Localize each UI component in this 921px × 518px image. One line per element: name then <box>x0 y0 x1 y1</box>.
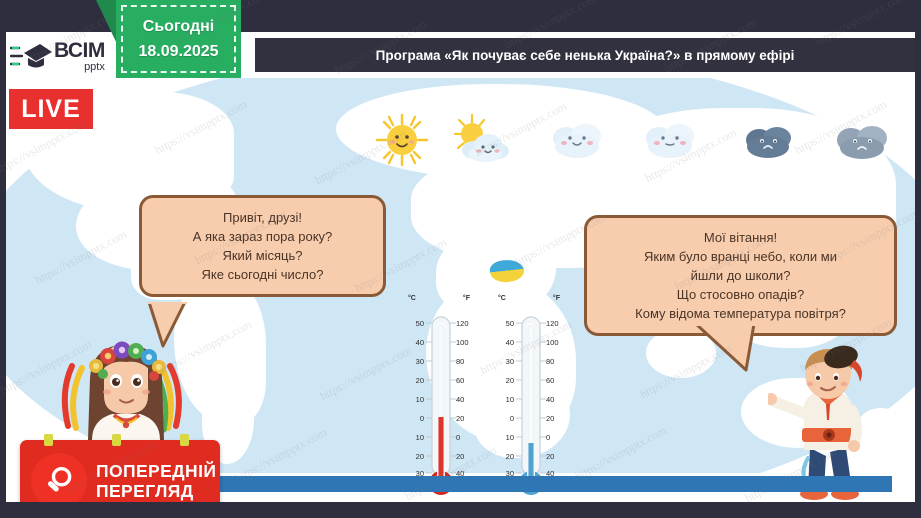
cloud-light-icon-2 <box>639 112 701 168</box>
thermo-blue-c-5: 0 <box>498 414 514 423</box>
thermo-red-c-7: 20 <box>408 452 424 461</box>
thermo-blue-c-3: 20 <box>498 376 514 385</box>
thermo-red-f-1: 100 <box>456 338 472 347</box>
thermo-red-c-5: 0 <box>408 414 424 423</box>
thermo-red-c-6: 10 <box>408 433 424 442</box>
thermo-red-f-5: 20 <box>456 414 472 423</box>
thermo-blue-c-0: 50 <box>498 319 514 328</box>
thermo-blue-f-4: 40 <box>546 395 562 404</box>
thermo-blue-f-7: 20 <box>546 452 562 461</box>
bubble-right-line-0: Мої вітання! <box>599 228 882 247</box>
bubble-left-line-3: Яке сьогодні число? <box>154 265 371 284</box>
live-badge-label: LIVE <box>21 95 81 124</box>
date-badge-today-label: Сьогодні <box>143 18 214 36</box>
thermo-blue-c-6: 10 <box>498 433 514 442</box>
thermo-red-f-2: 80 <box>456 357 472 366</box>
thermo-red-c-4: 10 <box>408 395 424 404</box>
sun-behind-cloud-icon <box>452 112 514 168</box>
thermometer-blue: °C °F <box>492 295 570 502</box>
window-left-bar <box>0 0 6 518</box>
speech-bubble-right-tail <box>696 324 756 372</box>
live-badge: LIVE <box>9 89 93 129</box>
bubble-left-line-0: Привіт, друзі! <box>154 208 371 227</box>
thermo-blue-f-2: 80 <box>546 357 562 366</box>
cloud-light-icon <box>546 112 608 168</box>
thermo-blue-f-3: 60 <box>546 376 562 385</box>
weather-icons-row <box>371 112 915 168</box>
slide-canvas: °C °F <box>0 0 921 518</box>
thermo-red-c-3: 20 <box>408 376 424 385</box>
thermo-red-f-3: 60 <box>456 376 472 385</box>
thermo-red-f-7: 20 <box>456 452 472 461</box>
thermo-blue-f-1: 100 <box>546 338 562 347</box>
speech-bubble-right: Мої вітання! Яким було вранці небо, коли… <box>584 215 897 336</box>
storm-cloud-icon-2 <box>831 112 893 168</box>
sun-icon <box>371 112 433 168</box>
magnifier-icon <box>31 453 87 502</box>
thermo-red-f-4: 40 <box>456 395 472 404</box>
bubble-right-line-3: Що стосовно опадів? <box>599 285 882 304</box>
ukrainian-girl-character <box>58 322 194 457</box>
bubble-right-line-1: Яким було вранці небо, коли ми <box>599 247 882 266</box>
vsimpptx-logo[interactable]: ВСІМ pptx <box>10 36 122 76</box>
bubble-right-line-2: йшли до школи? <box>599 266 882 285</box>
thermo-blue-c-7: 20 <box>498 452 514 461</box>
window-bottom-bar <box>0 502 921 518</box>
thermo-red-c-0: 50 <box>408 319 424 328</box>
preview-badge-line2: ПЕРЕГЛЯД <box>96 481 216 501</box>
bubble-left-line-2: Який місяць? <box>154 246 371 265</box>
logo-text: ВСІМ pptx <box>54 40 105 73</box>
thermo-red-f-6: 0 <box>456 433 472 442</box>
preview-badge-line1: ПОПЕРЕДНІЙ <box>96 461 216 481</box>
thermo-blue-c-2: 30 <box>498 357 514 366</box>
program-title-bar: Програма «Як почуває себе ненька Україна… <box>255 38 915 72</box>
logo-sub-text: pptx <box>54 62 105 73</box>
thermo-blue-f-5: 20 <box>546 414 562 423</box>
thermo-red-c-2: 30 <box>408 357 424 366</box>
thermo-blue-c-1: 40 <box>498 338 514 347</box>
bubble-right-line-4: Кому відома температура повітря? <box>599 304 882 323</box>
storm-cloud-icon <box>737 112 799 168</box>
thermo-red-f-0: 120 <box>456 319 472 328</box>
date-badge-date-value: 18.09.2025 <box>138 43 218 61</box>
thermo-blue-c-4: 10 <box>498 395 514 404</box>
slide-content: °C °F <box>6 32 915 502</box>
logo-main-text: ВСІМ <box>54 40 105 61</box>
preview-badge-label: ПОПЕРЕДНІЙ ПЕРЕГЛЯД <box>96 461 216 501</box>
date-badge: Сьогодні 18.09.2025 <box>116 0 241 78</box>
window-right-bar <box>915 0 921 518</box>
thermo-blue-f-0: 120 <box>546 319 562 328</box>
graduation-cap-icon <box>10 39 52 73</box>
program-title-text: Програма «Як почуває себе ненька Україна… <box>376 48 795 63</box>
thermo-red-c-1: 40 <box>408 338 424 347</box>
preview-badge[interactable]: ПОПЕРЕДНІЙ ПЕРЕГЛЯД <box>20 440 220 502</box>
thermo-blue-f-6: 0 <box>546 433 562 442</box>
thermometer-red: °C °F <box>402 295 480 502</box>
bubble-left-line-1: А яка зараз пора року? <box>154 227 371 246</box>
speech-bubble-left: Привіт, друзі! А яка зараз пора року? Як… <box>139 195 386 297</box>
